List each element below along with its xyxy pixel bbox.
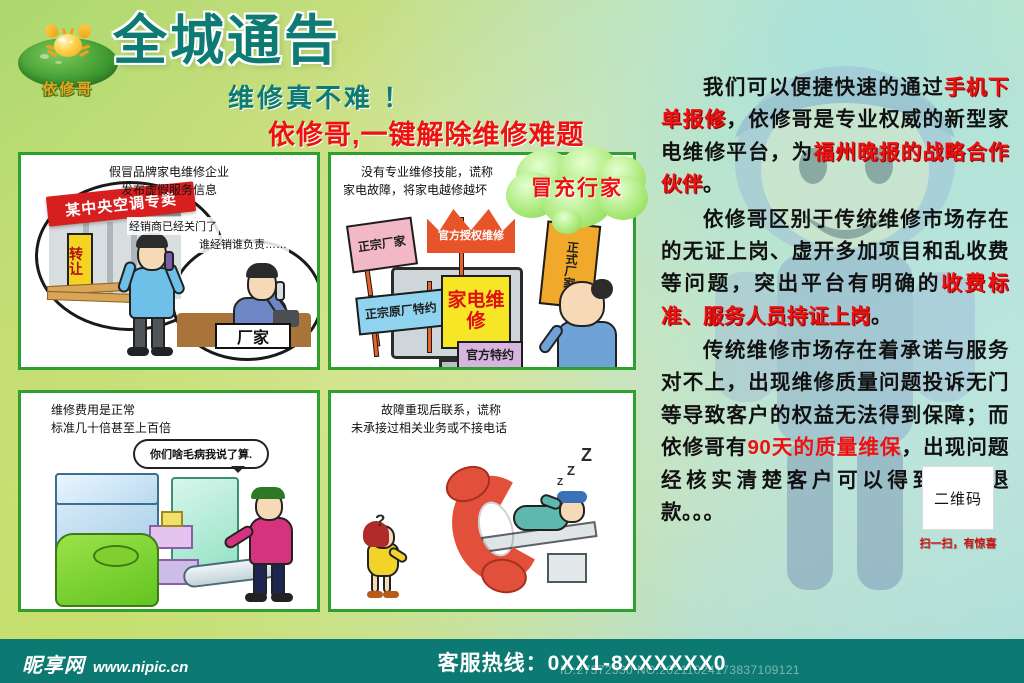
qr-code-block[interactable]: 二维码 扫一扫，有惊喜	[904, 466, 1012, 551]
panel-caption: 维修费用是正常 标准几十倍甚至上百倍	[21, 401, 317, 437]
hotline-text: 客服热线：0XX1-8XXXXXX0	[0, 647, 1024, 677]
repairman-figure	[237, 485, 307, 603]
banner-appliance-repair: 家电维修	[441, 275, 511, 349]
figure-shoe	[151, 347, 173, 356]
cloud-tail	[552, 210, 582, 234]
figure-leg	[253, 561, 267, 597]
crab-icon	[44, 22, 92, 62]
figure-shoe	[127, 347, 149, 356]
transfer-sign: 转让	[67, 233, 93, 291]
logo-wordmark: 依修哥	[16, 78, 120, 99]
toolbox-shape	[547, 553, 587, 583]
figure-shoe	[245, 593, 267, 602]
small-box	[161, 511, 183, 527]
comic-panel-fake-brand: 假冒品牌家电维修企业 发布虚假服务信息 某中央空调专卖 转让	[18, 152, 320, 370]
banner-official-contract: 官方特约	[457, 341, 523, 370]
figure-hair	[136, 233, 168, 248]
panel-caption: 假冒品牌家电维修企业 发布虚假服务信息	[21, 163, 317, 199]
crab-body	[54, 34, 82, 57]
panel-caption: 故障重现后联系，谎称 未承接过相关业务或不接电话	[331, 401, 633, 437]
banner-genuine-factory: 正宗厂家	[346, 217, 418, 274]
page-title: 全城通告	[113, 14, 341, 68]
customer-figure	[117, 227, 187, 357]
id-watermark: ID:27372330 NO:20211024173837109121	[560, 663, 800, 677]
brand-logo: 依修哥	[16, 10, 120, 98]
figure-shoe	[367, 591, 383, 598]
fridge-top-door	[55, 473, 159, 505]
crab-leg	[79, 50, 89, 57]
subtitle-primary: 维修真不难 ！	[228, 78, 412, 115]
mobile-phone	[164, 251, 174, 271]
sleeping-worker-figure	[499, 489, 595, 541]
question-mark: ?	[375, 511, 385, 531]
waiting-woman-figure	[357, 525, 411, 601]
sleep-zzz: Z	[567, 463, 575, 478]
figure-shoe	[383, 591, 399, 598]
qr-caption: 扫一扫，有惊喜	[904, 535, 1012, 551]
figure-hair	[591, 279, 613, 299]
poster-canvas: 依修哥 全城通告 维修真不难 ！ 依修哥,一键解除维修难题 假冒品牌家电维修企业…	[0, 0, 1024, 683]
comic-panel-overcharge: 维修费用是正常 标准几十倍甚至上百倍 你们啥毛病我说了算.	[18, 390, 320, 612]
callout-cloud: 冒充行家	[502, 146, 652, 236]
desk-phone-handset	[275, 281, 285, 301]
sleep-zzz: Z	[557, 477, 563, 488]
paragraph-1: 我们可以便捷快速的通过手机下单报修，依修哥是专业权威的新型家电维修平台，为福州晚…	[655, 72, 1015, 202]
figure-hair	[246, 263, 278, 278]
factory-sign: 厂家	[215, 323, 291, 349]
note-who-sells: 谁经销谁负责……	[197, 235, 289, 253]
figure-leg	[133, 315, 147, 351]
qr-code-placeholder: 二维码	[922, 466, 994, 530]
figure-shoe	[271, 593, 293, 602]
highlight-90-day-warranty: 90天的质量维保	[747, 436, 901, 459]
figure-torso	[557, 321, 617, 370]
sleep-zzz: Z	[581, 445, 592, 466]
figure-leg	[271, 561, 285, 597]
footer-bar: 昵享网 www.nipic.cn 客服热线：0XX1-8XXXXXX0 ID:2…	[0, 639, 1024, 683]
speech-bubble: 你们啥毛病我说了算.	[133, 439, 269, 469]
paragraph-2: 依修哥区别于传统维修市场存在的无证上岗、虚开多加项目和乱收费等问题，突出平台有明…	[655, 204, 1015, 334]
figure-torso	[249, 517, 293, 565]
bald-customer-figure	[537, 267, 627, 370]
figure-leg	[151, 315, 165, 351]
figure-hair	[251, 487, 285, 499]
comic-panel-no-answer: 故障重现后联系，谎称 未承接过相关业务或不接电话 Z Z Z ?	[328, 390, 636, 612]
appliance-washer	[55, 533, 159, 607]
note-dealer-closed: 经销商已经关门了	[127, 217, 219, 235]
callout-text: 冒充行家	[502, 172, 652, 202]
